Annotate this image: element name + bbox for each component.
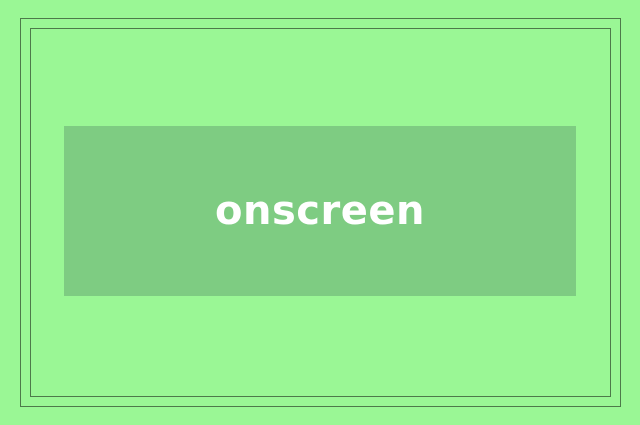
content-panel: onscreen [64, 126, 576, 296]
screen-canvas: onscreen [0, 0, 640, 425]
panel-caption: onscreen [215, 191, 425, 231]
